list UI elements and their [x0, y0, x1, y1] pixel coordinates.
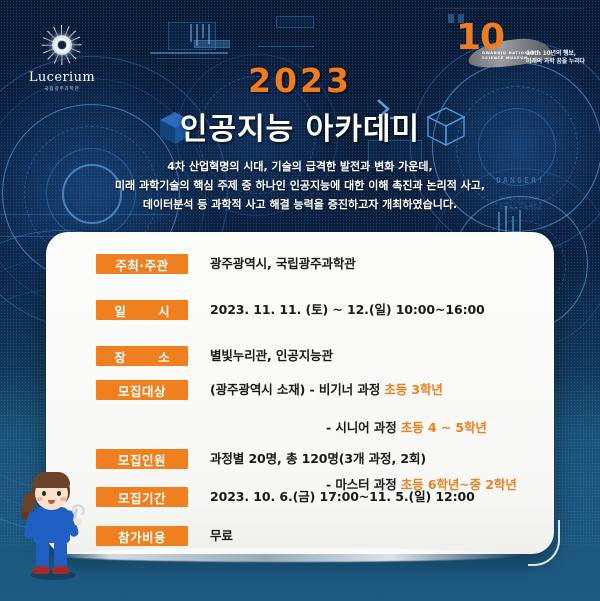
background-line	[0, 214, 170, 215]
info-card: 주최·주관 광주광역시, 국립광주과학관 일 시 2023. 11. 11. (…	[46, 232, 554, 554]
description-line-2: 미래 과학기술의 핵심 주제 중 하나인 인공지능에 대한 이해 촉진과 논리적…	[24, 176, 576, 195]
background-tick	[208, 24, 210, 44]
card-brush-stroke	[54, 548, 524, 562]
info-value-period: 2023. 10. 6.(금) 17:00~11. 5.(일) 12:00	[210, 487, 475, 506]
info-label-datetime: 일 시	[96, 300, 188, 320]
info-label-capacity: 모집인원	[96, 449, 188, 469]
poster-description: 4차 산업혁명의 시대, 기술의 급격한 발전과 변화 가운데, 미래 과학기술…	[24, 157, 576, 214]
background-tick	[190, 24, 192, 42]
background-line	[150, 52, 228, 54]
target-line2: - 시니어 과정 초등 4 ~ 5학년	[210, 418, 517, 437]
description-line-1: 4차 산업혁명의 시대, 기술의 급격한 발전과 변화 가운데,	[24, 157, 576, 176]
info-value-datetime: 2023. 11. 11. (토) ~ 12.(일) 10:00~16:00	[210, 300, 485, 319]
poster-root: DANGER! 01001 SYS>RUN >>AI_CORE_v2.3 STA…	[0, 0, 600, 601]
mascot-shoe-right	[52, 566, 69, 574]
target-line2-grade: 초등 4 ~ 5학년	[401, 420, 487, 435]
poster-title: 인공지능 아카데미	[0, 104, 600, 148]
mascot-cheek-left	[36, 497, 43, 501]
background-tick	[196, 24, 198, 46]
background-line	[258, 46, 314, 47]
info-value-capacity: 과정별 20명, 총 120명(3개 과정, 2회)	[210, 449, 426, 468]
mascot-cheek-right	[60, 497, 67, 501]
info-row-venue: 장 소 별빛누리관, 인공지능관	[96, 346, 333, 366]
info-label-period: 모집기간	[96, 487, 188, 507]
info-value-fee: 무료	[210, 526, 233, 545]
info-label-venue: 장 소	[96, 346, 188, 366]
info-label-target: 모집대상	[96, 380, 188, 400]
background-line	[434, 8, 584, 9]
info-label-fee: 참가비용	[96, 526, 188, 546]
mascot-leg-left	[36, 541, 49, 569]
info-row-period: 모집기간 2023. 10. 6.(금) 17:00~11. 5.(일) 12:…	[96, 487, 475, 507]
background-hud-panel	[276, 16, 314, 28]
mascot-eye-right	[57, 491, 61, 496]
target-line1-grade: 초등 3학년	[384, 382, 442, 397]
target-line2-pre: - 시니어 과정	[326, 420, 401, 435]
info-row-fee: 참가비용 무료	[96, 526, 233, 546]
info-value-host: 광주광역시, 국립광주과학관	[210, 254, 356, 273]
target-line1-pre: (광주광역시 소재) - 비기너 과정	[210, 382, 384, 397]
mascot-leg-right	[54, 541, 67, 569]
info-row-datetime: 일 시 2023. 11. 11. (토) ~ 12.(일) 10:00~16:…	[96, 300, 485, 320]
background-hud-panel	[194, 40, 230, 48]
mascot-shoe-left	[33, 566, 50, 574]
info-value-venue: 별빛누리관, 인공지능관	[210, 346, 333, 365]
badge-korean-line1: 10th 10년의 행보,	[526, 50, 576, 57]
info-row-capacity: 모집인원 과정별 20명, 총 120명(3개 과정, 2회)	[96, 449, 426, 469]
info-label-host: 주최·주관	[96, 254, 188, 274]
poster-year: 2023	[0, 61, 600, 100]
background-tick	[202, 24, 204, 38]
info-row-host: 주최·주관 광주광역시, 국립광주과학관	[96, 254, 356, 274]
girl-engineer-mascot	[14, 462, 88, 580]
mascot-hair-front	[33, 472, 70, 488]
mascot-hand	[74, 518, 82, 526]
description-line-3: 데이터분석 등 과학적 사고 해결 능력을 증진하고자 개최하였습니다.	[24, 195, 576, 214]
background-line	[156, 58, 220, 59]
mascot-eye-left	[42, 491, 46, 496]
